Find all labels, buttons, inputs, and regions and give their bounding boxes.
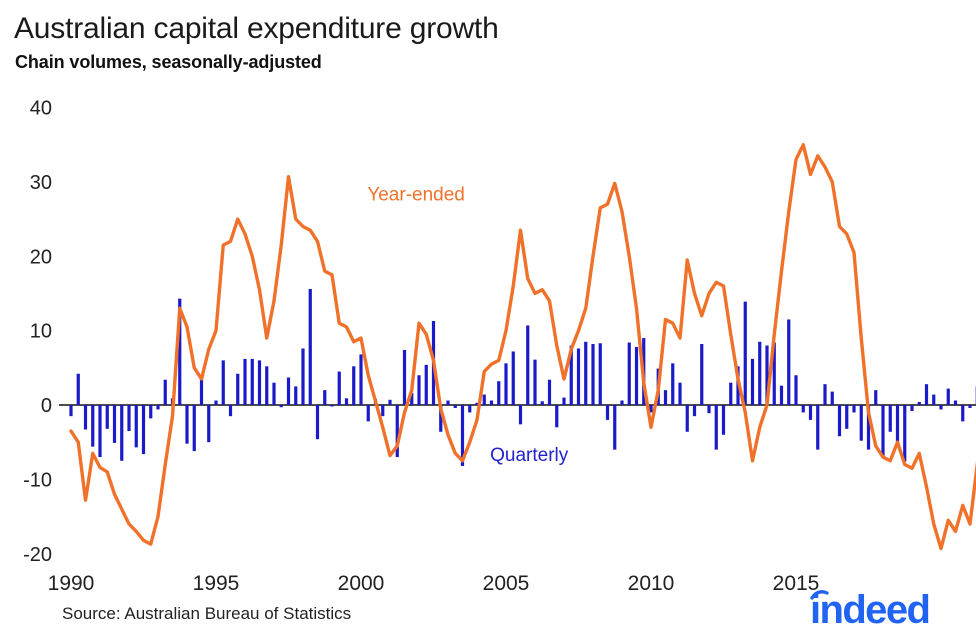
quarterly-bar [707,405,710,413]
quarterly-bar [591,344,594,405]
quarterly-bar [932,395,935,405]
quarterly-bar [577,348,580,405]
quarterly-bar [968,405,971,408]
indeed-logo: indeed [802,587,962,631]
x-axis-tick-label: 2005 [483,572,530,595]
quarterly-bar [446,401,449,405]
y-axis-tick-label: -20 [23,544,52,566]
quarterly-bar [91,405,94,447]
x-axis-tick-label: 2000 [338,572,385,595]
quarterly-bar [809,405,812,420]
quarterly-bar [860,405,863,441]
quarterly-bar [555,405,558,427]
quarterly-bar [823,384,826,405]
quarterly-bar [280,405,283,407]
quarterly-bar [156,405,159,409]
x-axis-tick-label: 2010 [628,572,675,595]
quarterly-bar [468,405,471,412]
quarterly-bar [229,405,232,416]
quarterly-bar [678,383,681,405]
quarterly-bar [381,405,384,416]
quarterly-bar [751,359,754,405]
quarterly-bar [236,374,239,405]
quarterly-bar [903,405,906,462]
quarterly-bar [599,343,602,405]
quarterly-bar [352,366,355,405]
quarterly-bar [541,401,544,405]
quarterly-bar [910,405,913,411]
quarterly-bar [635,347,638,405]
quarterly-bar [84,405,87,430]
quarterly-bar [316,405,319,439]
quarterly-bar [562,398,565,405]
quarterly-bars-group [69,289,976,466]
capex-growth-chart: 403020100-10-20199019952000200520102015Y… [0,0,976,637]
quarterly-bar [889,405,892,432]
quarterly-bar [207,405,210,442]
quarterly-bar [330,405,333,406]
indeed-logo-mark: indeed [802,587,962,631]
quarterly-bar [664,390,667,405]
y-axis-tick-label: -10 [23,469,52,491]
quarterly-bar [896,405,899,442]
quarterly-bar [367,405,370,421]
quarterly-bar [504,363,507,405]
quarterly-bar [939,405,942,409]
quarterly-bar [135,405,138,447]
quarterly-bar [961,405,964,421]
x-axis-tick-label: 1990 [48,572,95,595]
quarterly-bar [359,354,362,405]
quarterly-bar [628,343,631,405]
quarterly-bar [838,405,841,436]
quarterly-bar [881,405,884,457]
quarterly-bar [193,405,196,451]
quarterly-bar [497,381,500,405]
quarterly-bar [98,405,101,457]
quarterly-bar [287,377,290,405]
quarterly-bar [214,401,217,405]
quarterly-bar [222,360,225,405]
quarterly-bar [787,319,790,405]
quarterly-bar [802,405,805,412]
quarterly-bar [106,405,109,429]
y-axis-tick-label: 40 [30,98,52,120]
quarterly-bar [454,405,457,408]
y-axis-tick-label: 20 [30,246,52,268]
quarterly-bar [686,405,689,432]
x-axis-tick-label: 1995 [193,572,240,595]
series-label-year-ended: Year-ended [367,184,465,205]
quarterly-bar [831,392,834,405]
year-ended-line-group [71,145,976,549]
quarterly-bar [338,372,341,405]
quarterly-bar [613,405,616,450]
quarterly-bar [671,363,674,405]
quarterly-bar [744,302,747,405]
quarterly-bar [258,360,261,405]
source-note: Source: Australian Bureau of Statistics [62,604,351,624]
quarterly-bar [425,365,428,405]
quarterly-bar [584,342,587,405]
quarterly-bar [780,386,783,405]
quarterly-bar [69,405,72,416]
quarterly-bar [758,342,761,405]
quarterly-bar [77,374,80,405]
y-axis-tick-label: 30 [30,172,52,194]
chart-page: Australian capital expenditure growth Ch… [0,0,976,637]
quarterly-bar [149,405,152,418]
quarterly-bar [816,405,819,450]
quarterly-bar [925,384,928,405]
quarterly-bar [301,348,304,405]
quarterly-bar [845,405,848,429]
quarterly-bar [251,359,254,405]
quarterly-bar [113,405,116,443]
y-axis-tick-label: 10 [30,321,52,343]
quarterly-bar [526,325,529,405]
quarterly-bar [142,405,145,454]
quarterly-bar [323,390,326,405]
quarterly-bar [403,350,406,405]
quarterly-bar [417,375,420,405]
quarterly-bar [519,405,522,424]
quarterly-bar [345,398,348,405]
quarterly-bar [127,405,130,431]
quarterly-bar [309,289,312,405]
quarterly-bar [200,379,203,405]
quarterly-bar [852,405,855,412]
quarterly-bar [483,395,486,405]
quarterly-bar [272,383,275,405]
quarterly-bar [874,390,877,405]
quarterly-bar [120,405,123,461]
y-axis-tick-label: 0 [41,395,52,417]
quarterly-bar [954,401,957,405]
quarterly-bar [512,351,515,405]
quarterly-bar [715,405,718,450]
quarterly-bar [265,366,268,405]
quarterly-bar [243,359,246,405]
chart-area: 403020100-10-20199019952000200520102015Y… [0,0,976,637]
quarterly-bar [164,380,167,405]
quarterly-bar [533,360,536,405]
quarterly-bar [794,375,797,405]
quarterly-bar [606,405,609,420]
axes-group: 403020100-10-20199019952000200520102015 [23,98,976,596]
year-ended-line [71,145,976,549]
quarterly-bar [490,401,493,405]
quarterly-bar [947,389,950,405]
quarterly-bar [700,344,703,405]
indeed-wordmark: indeed [810,588,929,631]
quarterly-bar [693,405,696,416]
quarterly-bar [620,401,623,405]
quarterly-bar [729,383,732,405]
quarterly-bar [185,405,188,444]
quarterly-bar [918,402,921,405]
series-label-quarterly: Quarterly [490,445,569,466]
quarterly-bar [388,400,391,405]
quarterly-bar [548,380,551,405]
quarterly-bar [294,386,297,405]
quarterly-bar [722,405,725,435]
